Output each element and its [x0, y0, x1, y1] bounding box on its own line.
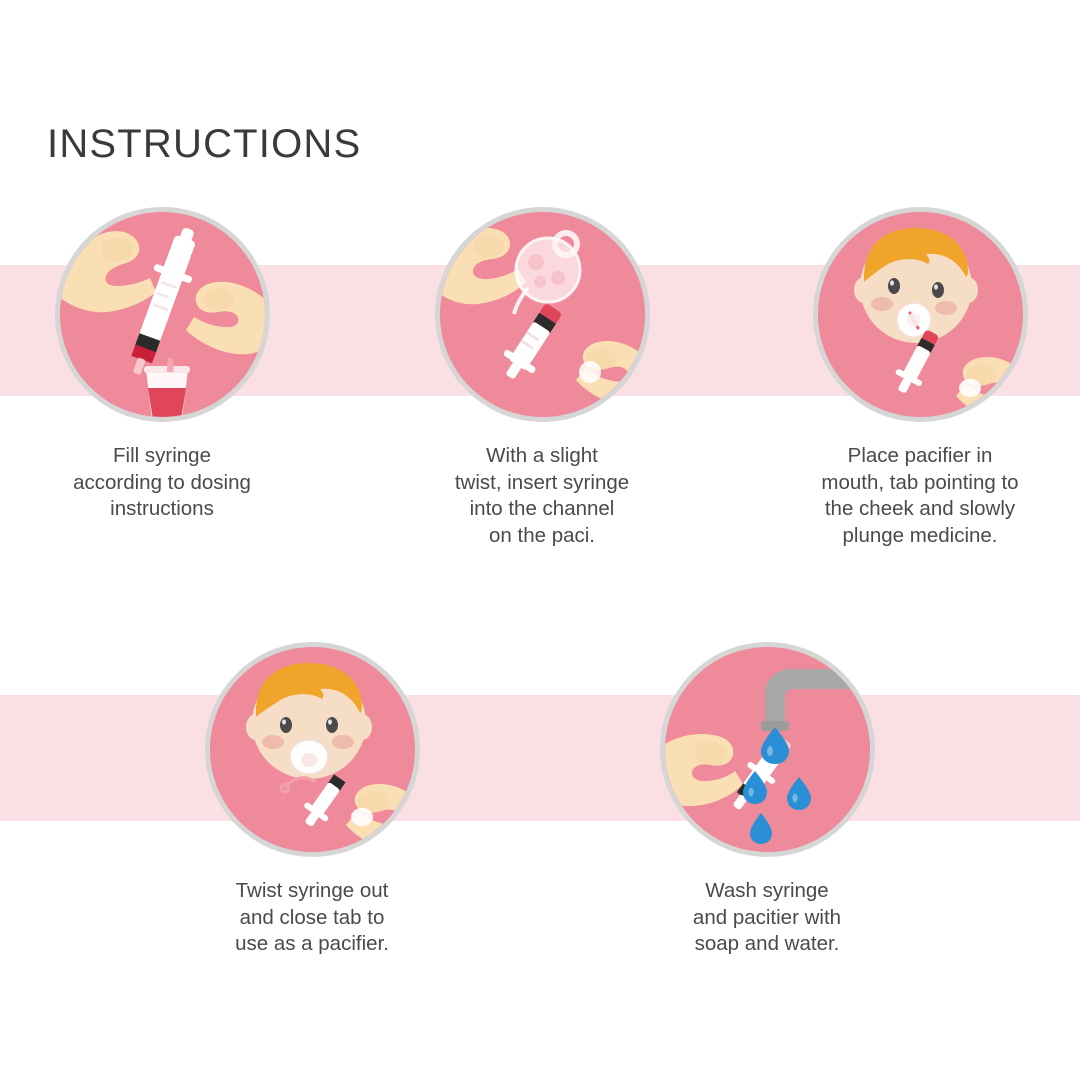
step-2-caption: With a slight twist, insert syringe into… [406, 443, 678, 549]
caption-line: twist, insert syringe [406, 470, 678, 497]
caption-line: use as a pacifier. [176, 931, 448, 958]
caption-line: into the channel [406, 496, 678, 523]
caption-line: Wash syringe [631, 878, 903, 905]
step-5: Wash syringe and pacitier with soap and … [631, 647, 903, 958]
step-5-caption: Wash syringe and pacitier with soap and … [631, 878, 903, 958]
page-title: INSTRUCTIONS [47, 122, 361, 167]
caption-line: according to dosing [26, 470, 298, 497]
step-5-illustration-circle [665, 647, 870, 852]
step-3-caption: Place pacifier in mouth, tab pointing to… [784, 443, 1056, 549]
illustration-baby-with-pacifier-hand-plunging-syringe [818, 212, 1023, 417]
illustration-hands-twisting-syringe-into-pacifier [440, 212, 645, 417]
caption-line: and pacitier with [631, 905, 903, 932]
caption-line: plunge medicine. [784, 523, 1056, 550]
caption-line: soap and water. [631, 931, 903, 958]
illustration-hand-washing-syringe-under-faucet [665, 647, 870, 852]
caption-line: instructions [26, 496, 298, 523]
illustration-baby-with-pacifier-hand-removing-syringe [210, 647, 415, 852]
step-4: Twist syringe out and close tab to use a… [176, 647, 448, 958]
step-4-illustration-circle [210, 647, 415, 852]
step-4-caption: Twist syringe out and close tab to use a… [176, 878, 448, 958]
step-2-illustration-circle [440, 212, 645, 417]
step-1-illustration-circle [60, 212, 265, 417]
caption-line: mouth, tab pointing to [784, 470, 1056, 497]
caption-line: Place pacifier in [784, 443, 1056, 470]
caption-line: the cheek and slowly [784, 496, 1056, 523]
step-1: Fill syringe according to dosing instruc… [26, 212, 298, 523]
caption-line: on the paci. [406, 523, 678, 550]
step-3-illustration-circle [818, 212, 1023, 417]
caption-line: With a slight [406, 443, 678, 470]
caption-line: and close tab to [176, 905, 448, 932]
step-1-caption: Fill syringe according to dosing instruc… [26, 443, 298, 523]
caption-line: Fill syringe [26, 443, 298, 470]
caption-line: Twist syringe out [176, 878, 448, 905]
step-3: Place pacifier in mouth, tab pointing to… [784, 212, 1056, 549]
step-2: With a slight twist, insert syringe into… [406, 212, 678, 549]
pink-band-bottom [0, 695, 1080, 821]
illustration-hands-filling-syringe-from-dosing-cup [60, 212, 265, 417]
